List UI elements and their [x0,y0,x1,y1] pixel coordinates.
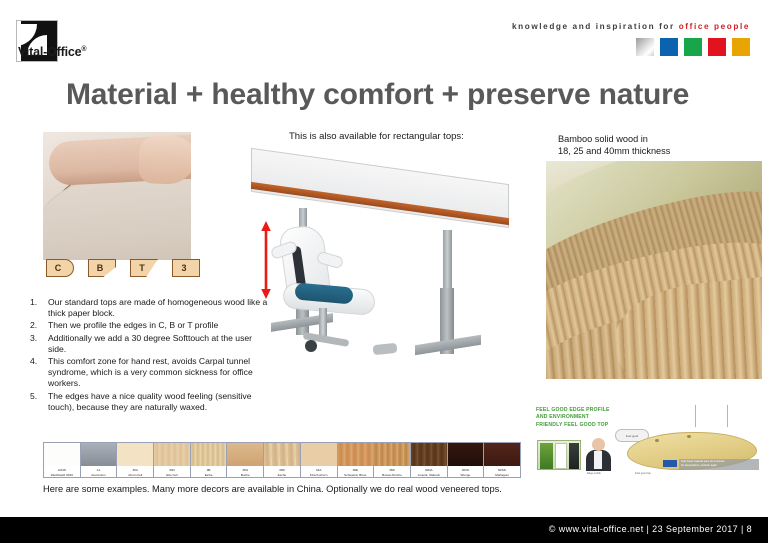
decor-name: Weiß/weiß 9016 [44,473,80,477]
advert-divider-2 [727,405,728,427]
advert-headline-line3: FRIENDLY FEEL GOOD TOP [536,422,666,429]
advert-caption-left: Edge profile [587,472,601,475]
desktop-grommet-1 [655,439,659,442]
decor-swatch: 30A Ahorn hell [117,443,154,477]
photo-hand [138,135,191,185]
edge-profile-c-label: C [55,263,62,273]
footer-text: © www.vital-office.net | 23 September 20… [549,524,752,534]
list-item-number: 5. [30,391,48,413]
decor-swatch-color [484,443,520,466]
decor-swatch-color [117,443,153,466]
decor-swatch: AO/W Weiß/weiß 9016 [44,443,81,477]
decor-swatch-label: 38E Schweizer Birne [338,466,374,477]
bamboo-caption: Bamboo solid wood in 18, 25 and 40mm thi… [558,133,670,157]
decor-name: Ahorn hell [117,473,153,477]
edge-profile-c-icon: C [46,259,74,277]
decor-swatch-label: AL Aluminium [81,466,117,477]
list-item: 4. This comfort zone for hand rest, avoi… [30,356,268,390]
footer-page-number: 8 [747,524,752,534]
decor-swatch-color [191,443,227,466]
decor-swatch-label: 38D Esche [264,466,300,477]
chair-base-arm [373,343,398,355]
list-item: 2. Then we profile the edges in C, B or … [30,320,268,331]
advert-headline: FEEL GOOD EDGE PROFILE AND ENVIRONMENT F… [536,407,666,429]
decor-swatch-color [448,443,484,466]
decor-swatch-label: 30/ML Mahagoni [484,466,520,477]
decor-name: Mahagoni [484,473,520,477]
advert-headline-line1: FEEL GOOD EDGE PROFILE [536,407,666,414]
decor-name: Wenge [448,473,484,477]
footer-site[interactable]: www.vital-office.net [559,524,644,534]
registered-mark: ® [81,46,86,53]
decor-swatch: 30/W Wenge [448,443,485,477]
feature-list: 1. Our standard tops are made of homogen… [30,297,268,414]
decor-swatch: 38G Buche [227,443,264,477]
list-item: 1. Our standard tops are made of homogen… [30,297,268,319]
height-adjustable-desk-illustration [243,158,523,386]
list-item-text: Additionally we add a 30 degree Softtouc… [48,333,268,355]
color-square-green [684,38,702,56]
color-square-amber [732,38,750,56]
edge-profile-b-label: B [97,263,104,273]
decor-swatch: 30NA Amerik. Walnuß [411,443,448,477]
height-adjust-arrow-icon [260,220,272,300]
decor-swatch-color [44,443,80,466]
chair-caster [305,340,317,352]
logo-wordmark-text: Vital-Office [18,45,81,59]
decor-swatch-strip: AO/W Weiß/weiß 9016 AL Aluminium 30A Aho… [43,442,521,478]
presenter-head [592,438,605,451]
certificate-panel-green [540,443,553,469]
decor-name: Aluminium [81,473,117,477]
color-square-red [708,38,726,56]
decor-swatch-label: 34A Kirsch Ahorn [301,466,337,477]
decor-name: Kirsch Ahorn [301,473,337,477]
decor-name: Eiche [191,473,227,477]
list-item-number: 2. [30,320,48,331]
color-square-blue [660,38,678,56]
advert-brand-logo [663,460,677,467]
slide-footer: © www.vital-office.net | 23 September 20… [0,517,768,543]
decor-swatch-color [411,443,447,466]
advert-note: Feel Good material save the Furniture fo… [679,459,759,470]
decor-swatch: 33N Erle hell [154,443,191,477]
list-item-text: Then we profile the edges in C, B or T p… [48,320,268,331]
decor-swatch: 9B Eiche [191,443,228,477]
desktop-grommet-2 [687,435,691,438]
decor-swatch: AL Aluminium [81,443,118,477]
decor-swatch-color [81,443,117,466]
decor-swatch: 38E Schweizer Birne [338,443,375,477]
edge-profile-icons: C B T 3 [46,259,200,277]
decor-swatch: 30/ML Mahagoni [484,443,520,477]
eco-certificate-image [537,440,581,470]
rectangular-tops-caption: This is also available for rectangular t… [289,131,464,142]
footer-separator-2: | [741,524,744,534]
decor-swatch-color [301,443,337,466]
decor-swatch-color [374,443,410,466]
list-item-number: 1. [30,297,48,319]
footer-separator-1: | [647,524,650,534]
advert-headline-line2: AND ENVIRONMENT [536,414,666,421]
advert-note-line2: for Generations, nontoxic again [681,464,757,468]
decor-name: Buche [227,473,263,477]
footer-date: 23 September 2017 [652,524,738,534]
edge-profile-3-label: 3 [181,263,186,273]
list-item-number: 3. [30,333,48,355]
decor-swatch-label: 30A Ahorn hell [117,466,153,477]
list-item-text: Our standard tops are made of homogeneou… [48,297,268,319]
decor-swatch-label: 30NA Amerik. Walnuß [411,466,447,477]
decor-swatch: 38D Esche [264,443,301,477]
slide-root: Vital-Office® knowledge and inspiration … [0,0,768,543]
comfort-zone-photo [43,132,191,260]
decor-name: Erle hell [154,473,190,477]
edge-profile-3-icon: 3 [172,259,200,277]
decor-swatch-color [227,443,263,466]
presenter-photo [585,438,611,470]
tagline-accent: office people [679,22,750,31]
bamboo-photo [546,161,762,379]
color-square-silver [636,38,654,56]
decor-swatch-label: AO/W Weiß/weiß 9016 [44,466,80,477]
decor-swatch-color [264,443,300,466]
decor-swatch-label: 36D Bossa Kirsche [374,466,410,477]
header-tagline: knowledge and inspiration for office peo… [512,22,750,31]
bamboo-caption-line2: 18, 25 and 40mm thickness [558,145,670,157]
edge-profile-t-label: T [139,263,145,273]
decor-swatch-label: 33N Erle hell [154,466,190,477]
certificate-panel-dark [569,443,579,469]
decor-name: Amerik. Walnuß [411,473,447,477]
decor-swatch-label: 38G Buche [227,466,263,477]
logo-wordmark: Vital-Office® [18,45,86,59]
edge-profile-t-icon: T [130,259,158,277]
certificate-panel-white [555,443,567,469]
footer-copyright: © [549,524,556,534]
decor-name: Bossa Kirsche [374,473,410,477]
header-color-squares [636,38,750,56]
decor-swatch-label: 9B Eiche [191,466,227,477]
list-item: 3. Additionally we add a 30 degree Softt… [30,333,268,355]
advert-caption-right: Feel good top [635,472,651,475]
decor-swatch-color [154,443,190,466]
decor-name: Esche [264,473,300,477]
list-item-text: This comfort zone for hand rest, avoids … [48,356,268,390]
decor-swatch: 36D Bossa Kirsche [374,443,411,477]
advert-divider-1 [695,405,696,427]
list-item-number: 4. [30,356,48,390]
edge-profile-b-icon: B [88,259,116,277]
feel-good-advert: FEEL GOOD EDGE PROFILE AND ENVIRONMENT F… [527,402,761,478]
bamboo-caption-line1: Bamboo solid wood in [558,133,670,145]
tagline-plain: knowledge and inspiration for [512,22,679,31]
list-item-text: The edges have a nice quality wood feeli… [48,391,268,413]
decor-swatch-label: 30/W Wenge [448,466,484,477]
decor-examples-note: Here are some examples. Many more decors… [43,484,502,494]
decor-swatch: 34A Kirsch Ahorn [301,443,338,477]
list-item: 5. The edges have a nice quality wood fe… [30,391,268,413]
page-title: Material + healthy comfort + preserve na… [66,78,689,112]
decor-name: Schweizer Birne [338,473,374,477]
presenter-shirt [594,451,602,469]
decor-swatch-color [338,443,374,466]
